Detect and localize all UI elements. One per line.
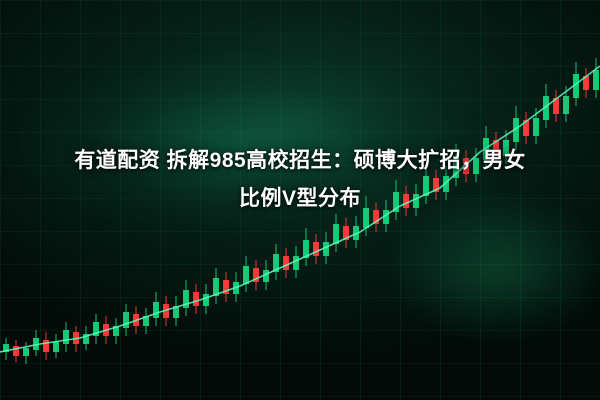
headline-line-1: 有道配资 拆解985高校招生：硕博大扩招，男女	[26, 142, 574, 180]
image-canvas: 有道配资 拆解985高校招生：硕博大扩招，男女 比例V型分布	[0, 0, 600, 400]
headline-line-2: 比例V型分布	[26, 180, 574, 218]
headline-text: 有道配资 拆解985高校招生：硕博大扩招，男女 比例V型分布	[0, 142, 600, 218]
